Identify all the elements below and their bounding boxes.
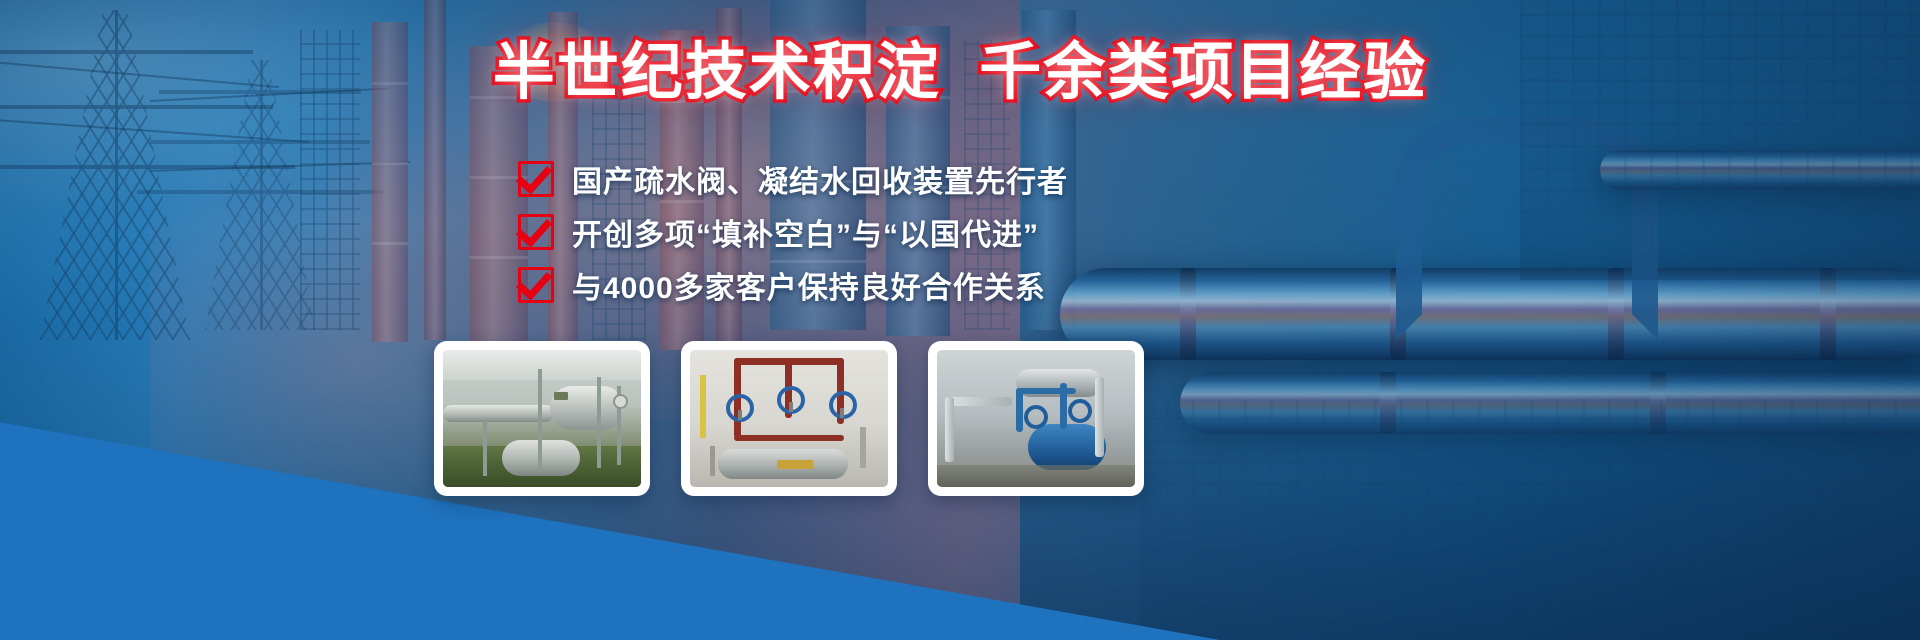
feature-list-item-label: 开创多项“填补空白”与“以国代进” xyxy=(572,210,1039,254)
product-photo-1 xyxy=(443,350,641,487)
checkbox-checked-icon xyxy=(518,214,554,250)
checkbox-checked-icon xyxy=(518,161,554,197)
hero-banner: 半世纪技术积淀 千余类项目经验 国产疏水阀、凝结水回收装置先行者 开创多项“填补… xyxy=(0,0,1920,640)
feature-list-item-label: 与4000多家客户保持良好合作关系 xyxy=(572,263,1046,307)
feature-list: 国产疏水阀、凝结水回收装置先行者 开创多项“填补空白”与“以国代进” 与4000… xyxy=(518,152,1278,311)
checkbox-checked-icon xyxy=(518,267,554,303)
banner-headline: 半世纪技术积淀 千余类项目经验 xyxy=(0,34,1920,112)
product-photo-card[interactable] xyxy=(434,341,650,496)
product-photo-card[interactable] xyxy=(928,341,1144,496)
product-photo-3 xyxy=(937,350,1135,487)
feature-list-item-label: 国产疏水阀、凝结水回收装置先行者 xyxy=(572,157,1068,201)
product-photo-card[interactable] xyxy=(681,341,897,496)
product-photo-2 xyxy=(690,350,888,487)
feature-list-item: 开创多项“填补空白”与“以国代进” xyxy=(518,205,1278,258)
feature-list-item: 国产疏水阀、凝结水回收装置先行者 xyxy=(518,152,1278,205)
feature-list-item: 与4000多家客户保持良好合作关系 xyxy=(518,258,1278,311)
product-photo-gallery xyxy=(434,341,1144,496)
